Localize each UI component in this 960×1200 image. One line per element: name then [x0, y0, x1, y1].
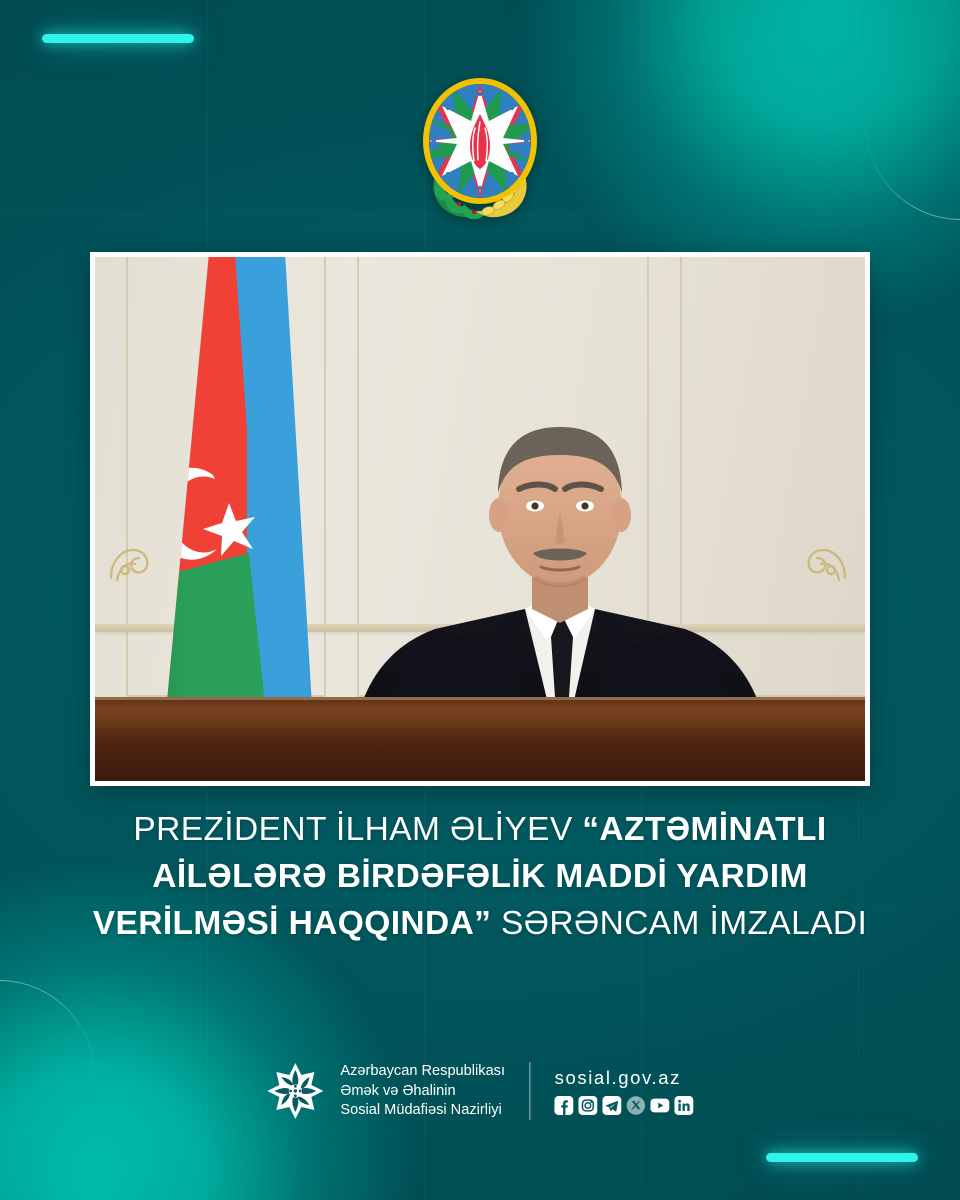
headline-line-1: PREZİDENT İLHAM ƏLİYEV “AZTƏMİNATLI: [50, 806, 910, 853]
ministry-logo-icon: [266, 1062, 324, 1120]
headline: PREZİDENT İLHAM ƏLİYEV “AZTƏMİNATLIAİLƏL…: [50, 806, 910, 947]
state-emblem-icon: [414, 78, 546, 224]
corner-bracket-top-right: [866, 0, 960, 220]
headline-line-3: VERİLMƏSİ HAQQINDA” SƏRƏNCAM İMZALADI: [50, 900, 910, 947]
corner-bracket-bottom-left: [0, 980, 94, 1200]
ministry-name: Azərbaycan Respublikası Əmək və Əhalinin…: [340, 1062, 505, 1121]
headline-segment-2-1: AİLƏLƏRƏ BİRDƏFƏLİK MADDİ YARDIM: [152, 858, 808, 895]
footer: Azərbaycan Respublikası Əmək və Əhalinin…: [266, 1062, 693, 1121]
youtube-icon[interactable]: [651, 1096, 670, 1115]
desk: [95, 697, 865, 781]
telegram-icon[interactable]: [603, 1096, 622, 1115]
accent-bar-bottom-right: [766, 1153, 918, 1162]
headline-segment-1-1: PREZİDENT İLHAM ƏLİYEV: [133, 811, 582, 848]
president-photo: [90, 252, 870, 786]
linkedin-icon[interactable]: [675, 1096, 694, 1115]
ministry-name-line-3: Sosial Müdafiəsi Nazirliyi: [340, 1101, 505, 1121]
x-twitter-icon[interactable]: [627, 1096, 646, 1115]
footer-contact: sosial.gov.az: [555, 1067, 694, 1115]
footer-divider: [529, 1062, 531, 1120]
headline-line-2: AİLƏLƏRƏ BİRDƏFƏLİK MADDİ YARDIM: [50, 853, 910, 900]
instagram-icon[interactable]: [579, 1096, 598, 1115]
headline-segment-1-2: “AZTƏMİNATLI: [582, 811, 826, 848]
facebook-icon[interactable]: [555, 1096, 574, 1115]
headline-segment-3-1: VERİLMƏSİ HAQQINDA”: [93, 905, 501, 942]
website-url[interactable]: sosial.gov.az: [555, 1067, 694, 1089]
social-links: [555, 1096, 694, 1115]
poster-canvas: PREZİDENT İLHAM ƏLİYEV “AZTƏMİNATLIAİLƏL…: [0, 0, 960, 1200]
headline-segment-3-2: SƏRƏNCAM İMZALADI: [501, 905, 867, 942]
ministry-name-line-2: Əmək və Əhalinin: [340, 1082, 505, 1102]
accent-bar-top-left: [42, 34, 194, 43]
ministry-name-line-1: Azərbaycan Respublikası: [340, 1062, 505, 1082]
